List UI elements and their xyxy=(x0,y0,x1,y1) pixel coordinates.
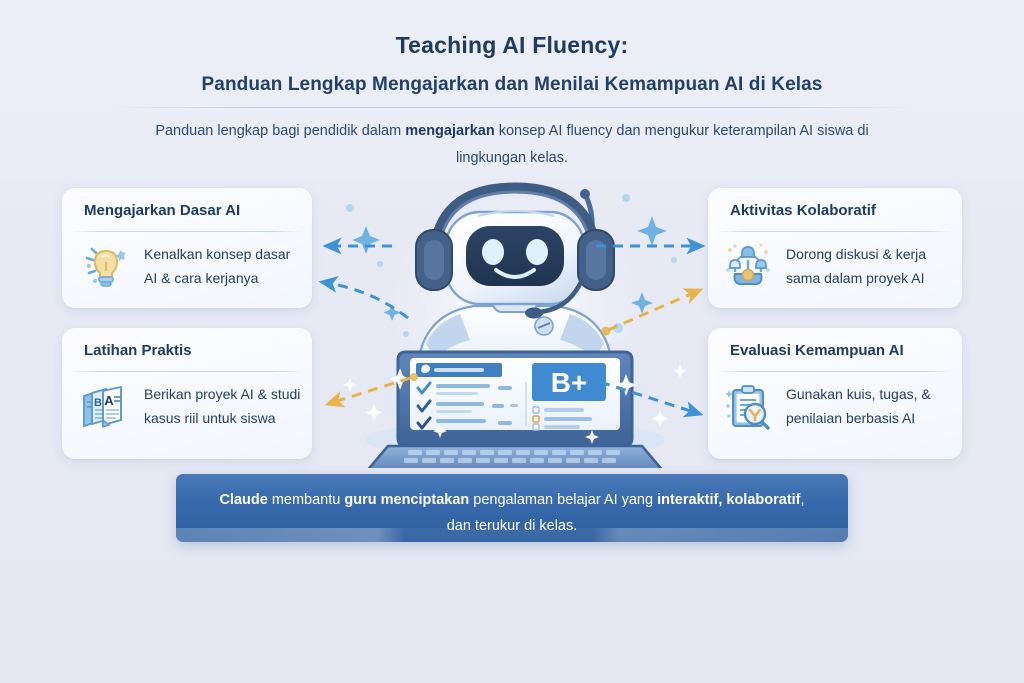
card-text: Kenalkan konsep dasar AI & cara kerjanya xyxy=(144,240,302,290)
card-title: Latihan Praktis xyxy=(84,342,192,359)
card-body: B A Berikan proyek AI & studi kasus riil… xyxy=(80,380,302,432)
card-aktivitas-kolaboratif[interactable]: Aktivitas Kolaboratif xyxy=(708,188,962,308)
card-divider xyxy=(718,371,952,372)
banner-bold-1: Claude xyxy=(219,492,267,508)
card-body: Kenalkan konsep dasar AI & cara kerjanya xyxy=(80,240,302,292)
intro-text-2: konsep AI fluency dan mengukur keterampi… xyxy=(456,123,869,166)
card-title: Aktivitas Kolaboratif xyxy=(730,202,876,219)
card-body: Dorong diskusi & kerja sama dalam proyek… xyxy=(722,240,952,292)
svg-text:A: A xyxy=(104,393,114,408)
intro-paragraph: Panduan lengkap bagi pendidik dalam meng… xyxy=(140,118,884,172)
card-text: Gunakan kuis, tugas, & penilaian berbasi… xyxy=(786,380,952,430)
card-divider xyxy=(718,231,952,232)
books-grade-icon: B A xyxy=(80,380,132,432)
clipboard-magnifier-icon xyxy=(722,380,774,432)
svg-text:B: B xyxy=(94,397,102,409)
lightbulb-icon xyxy=(80,240,132,292)
card-text: Dorong diskusi & kerja sama dalam proyek… xyxy=(786,240,952,290)
card-latihan-praktis[interactable]: Latihan Praktis B A Berikan proyek AI & … xyxy=(62,328,312,459)
sparkles xyxy=(330,168,700,468)
page-title: Teaching AI Fluency: xyxy=(0,32,1024,59)
card-divider xyxy=(72,231,302,232)
summary-banner: Claude membantu guru menciptakan pengala… xyxy=(176,474,848,542)
card-mengajarkan-dasar-ai[interactable]: Mengajarkan Dasar AI xyxy=(62,188,312,308)
banner-plain-1: membantu xyxy=(268,492,345,508)
card-text: Berikan proyek AI & studi kasus riil unt… xyxy=(144,380,302,430)
banner-text: Claude membantu guru menciptakan pengala… xyxy=(216,487,808,539)
page-subtitle: Panduan Lengkap Mengajarkan dan Menilai … xyxy=(0,74,1024,96)
infographic-canvas: Teaching AI Fluency: Panduan Lengkap Men… xyxy=(0,0,1024,683)
intro-text-bold: mengajarkan xyxy=(405,123,494,139)
central-illustration: B+ xyxy=(330,168,700,468)
card-title: Evaluasi Kemampuan AI xyxy=(730,342,904,359)
card-title: Mengajarkan Dasar AI xyxy=(84,202,240,219)
intro-text-1: Panduan lengkap bagi pendidik dalam xyxy=(155,123,405,139)
banner-bold-3: interaktif, kolaboratif xyxy=(657,492,800,508)
banner-plain-2: pengalaman belajar AI yang xyxy=(469,492,657,508)
card-evaluasi-kemampuan-ai[interactable]: Evaluasi Kemampuan AI xyxy=(708,328,962,459)
card-divider xyxy=(72,371,302,372)
header-divider xyxy=(112,107,912,108)
collaboration-network-icon xyxy=(722,240,774,292)
banner-bold-2: guru menciptakan xyxy=(344,492,469,508)
card-body: Gunakan kuis, tugas, & penilaian berbasi… xyxy=(722,380,952,432)
header-section: Teaching AI Fluency: Panduan Lengkap Men… xyxy=(0,0,1024,178)
